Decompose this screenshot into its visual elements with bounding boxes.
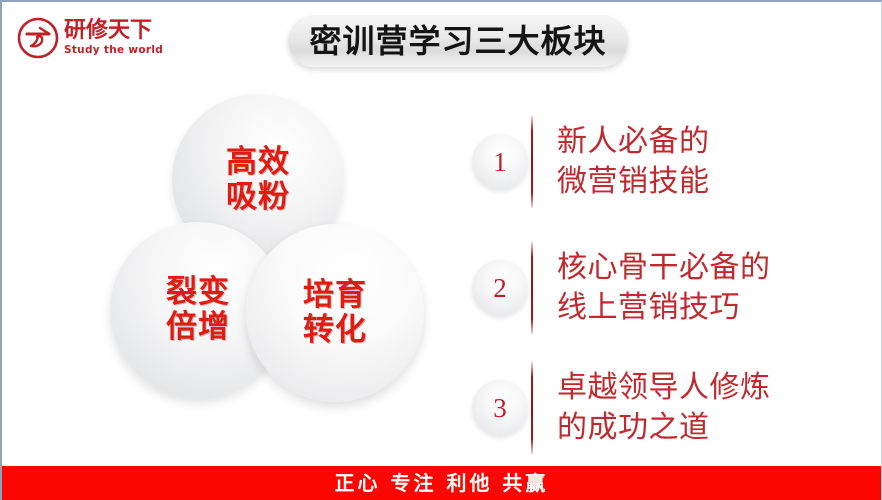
footer-slogan: 正心 专注 利他 共赢	[335, 473, 549, 493]
list-item-3-text: 卓越领导人修炼 的成功之道	[557, 368, 771, 448]
footer-bar: 正心 专注 利他 共赢	[2, 466, 881, 500]
slide-canvas: 研修天下 Study the world 密训营学习三大板块 高效吸粉 裂变倍增…	[0, 0, 882, 500]
divider-rule-3	[531, 362, 533, 454]
list-item-1-line2: 微营销技能	[557, 162, 710, 202]
logo-english-tagline: Study the world	[64, 45, 163, 56]
number-badge-2: 2	[472, 260, 528, 316]
circle-top-label: 高效吸粉	[226, 145, 290, 214]
divider-rule-1	[531, 116, 533, 208]
brand-logo: 研修天下 Study the world	[16, 12, 168, 64]
page-title: 密训营学习三大板块	[309, 25, 606, 57]
list-item-2-line2: 线上营销技巧	[557, 288, 771, 328]
logo-emblem-icon	[16, 16, 60, 60]
list-item-2: 2 核心骨干必备的 线上营销技巧	[472, 238, 872, 338]
badge-number-1: 1	[493, 149, 507, 176]
list-item-2-line1: 核心骨干必备的	[557, 248, 771, 288]
list-item-3: 3 卓越领导人修炼 的成功之道	[472, 358, 872, 458]
circle-bottom-right: 培育转化	[246, 224, 424, 402]
module-list: 1 新人必备的 微营销技能 2 核心骨干必备的 线上营销技巧 3	[472, 106, 872, 456]
list-item-2-text: 核心骨干必备的 线上营销技巧	[557, 248, 771, 328]
logo-wordmark: 研修天下 Study the world	[64, 20, 163, 56]
circle-cluster: 高效吸粉 裂变倍增 培育转化	[110, 94, 430, 404]
list-item-3-line2: 的成功之道	[557, 408, 771, 448]
page-title-pill: 密训营学习三大板块	[288, 14, 628, 67]
list-item-1-text: 新人必备的 微营销技能	[557, 122, 710, 202]
badge-number-2: 2	[493, 275, 507, 302]
number-badge-3: 3	[472, 380, 528, 436]
divider-rule-2	[531, 242, 533, 334]
badge-number-3: 3	[493, 395, 507, 422]
logo-chinese-name: 研修天下	[64, 20, 163, 42]
number-badge-1: 1	[472, 134, 528, 190]
circle-bottom-right-label: 培育转化	[303, 278, 367, 347]
list-item-1: 1 新人必备的 微营销技能	[472, 112, 872, 212]
list-item-1-line1: 新人必备的	[557, 122, 710, 162]
list-item-3-line1: 卓越领导人修炼	[557, 368, 771, 408]
circle-bottom-left-label: 裂变倍增	[166, 275, 230, 344]
